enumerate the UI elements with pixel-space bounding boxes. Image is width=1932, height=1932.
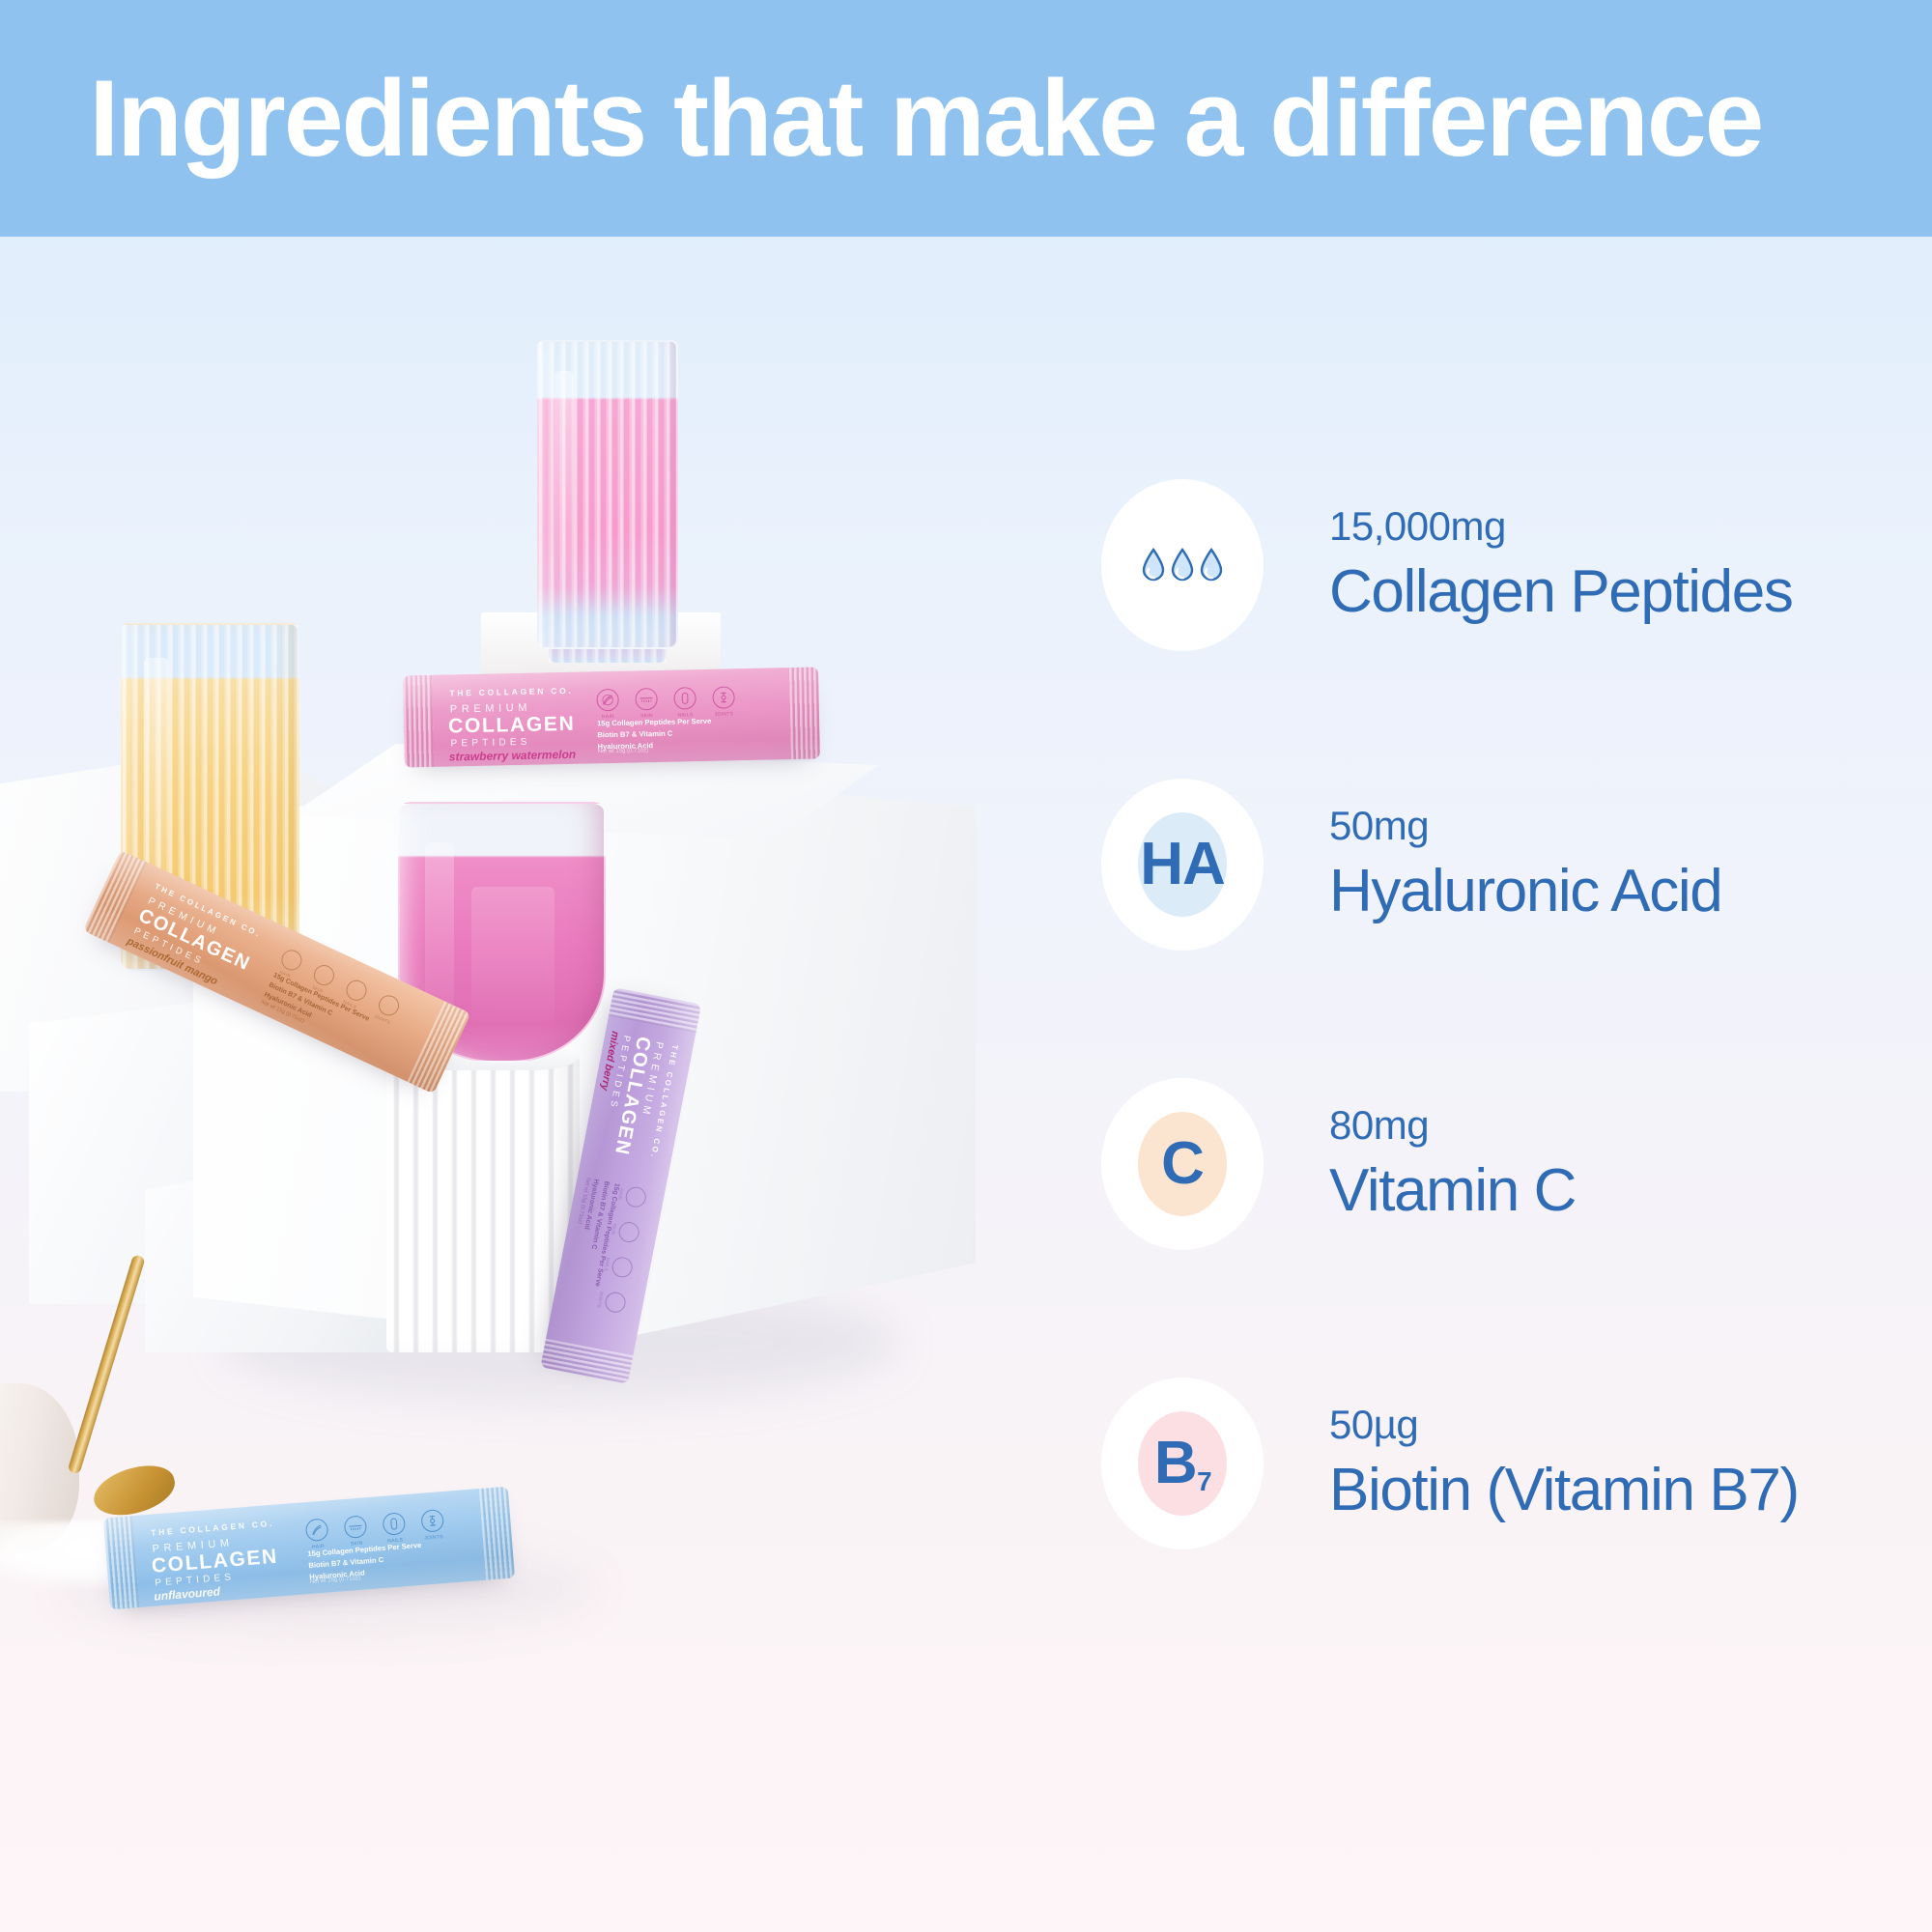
ingredient-name: Hyaluronic Acid — [1329, 856, 1721, 926]
icon-label: JOINTS — [596, 1291, 604, 1309]
joints-icon: JOINTS — [596, 1289, 627, 1314]
nails-icon: NAILS — [673, 687, 696, 718]
fluted-cylinder-pedestal — [386, 1053, 580, 1352]
icon-label: JOINTS — [424, 1534, 443, 1542]
b7-subscript: 7 — [1197, 1466, 1211, 1496]
ingredient-row-hyaluronic-acid: HA 50mg Hyaluronic Acid — [1101, 753, 1932, 976]
hair-icon: HAIR — [596, 689, 619, 720]
sachet-flavour: strawberry watermelon — [449, 748, 577, 764]
sachet-strawberry-watermelon: THE COLLAGEN CO. PREMIUM COLLAGEN PEPTID… — [403, 668, 820, 768]
ingredient-amount: 15,000mg — [1329, 503, 1792, 550]
tall-pink-drink-glass — [537, 340, 678, 649]
joints-icon: JOINTS — [712, 686, 735, 717]
ingredient-amount: 80mg — [1329, 1102, 1576, 1149]
sachet-brand: THE COLLAGEN CO. — [151, 1519, 274, 1538]
sachet-net-weight: Net wt 15g (0.71oz) — [598, 748, 648, 754]
sachet-brand: THE COLLAGEN CO. — [449, 686, 573, 698]
hair-icon: HAIR — [616, 1183, 647, 1208]
glass-rib-texture — [539, 342, 676, 647]
header-banner: Ingredients that make a difference — [0, 0, 1932, 237]
hair-icon: HAIR — [305, 1518, 329, 1550]
icon-label: JOINTS — [715, 711, 734, 717]
nails-icon: NAILS — [603, 1254, 634, 1279]
vitamin-c-letter-icon: C — [1161, 1134, 1204, 1194]
page-title: Ingredients that make a difference — [9, 65, 1762, 173]
ingredient-badge — [1101, 479, 1264, 651]
ingredient-text: 50mg Hyaluronic Acid — [1329, 803, 1721, 925]
skin-icon: SKIN — [635, 688, 658, 719]
ingredient-badge: C — [1101, 1078, 1264, 1250]
b-letter: B — [1154, 1430, 1197, 1496]
ingredient-name: Vitamin C — [1329, 1155, 1576, 1226]
sachet-info: 15g Collagen Peptides Per Serve Biotin B… — [597, 716, 712, 753]
sachet-benefit-icons: HAIR SKIN NAILS JOINTS — [596, 686, 735, 720]
ingredient-text: 50µg Biotin (Vitamin B7) — [1329, 1402, 1799, 1524]
glass-highlight — [554, 371, 574, 612]
biotin-b7-letter-icon: B7 — [1154, 1434, 1210, 1493]
ingredient-badge: B7 — [1101, 1378, 1264, 1549]
ingredient-name: Collagen Peptides — [1329, 556, 1792, 627]
sachet-info-line: 15g Collagen Peptides Per Serve — [597, 716, 711, 729]
ingredient-amount: 50µg — [1329, 1402, 1799, 1448]
water-droplets-icon — [1141, 548, 1224, 582]
skin-icon: SKIN — [610, 1219, 640, 1244]
ingredient-amount: 50mg — [1329, 803, 1721, 849]
sachet-crimp — [103, 1516, 139, 1609]
ingredient-name: Biotin (Vitamin B7) — [1329, 1455, 1799, 1525]
ha-letters-icon: HA — [1140, 835, 1225, 895]
sachet-crimp — [403, 675, 434, 768]
joints-icon: JOINTS — [420, 1509, 444, 1542]
nails-icon: NAILS — [382, 1512, 406, 1545]
glass-highlight — [471, 887, 554, 1022]
collagen-sachets-and-drinks-photo: THE COLLAGEN CO. PREMIUM COLLAGEN PEPTID… — [0, 290, 1024, 1932]
infographic-page: Ingredients that make a difference — [0, 0, 1932, 1932]
sachet-crimp — [479, 1487, 515, 1580]
ingredients-list: 15,000mg Collagen Peptides HA 50mg Hyalu… — [1101, 454, 1932, 1652]
skin-icon: SKIN — [344, 1515, 368, 1548]
ingredient-row-biotin: B7 50µg Biotin (Vitamin B7) — [1101, 1352, 1932, 1575]
ingredient-row-vitamin-c: C 80mg Vitamin C — [1101, 1053, 1932, 1275]
sachet-crimp — [789, 668, 820, 760]
ingredient-text: 80mg Vitamin C — [1329, 1102, 1576, 1225]
joints-icon: JOINTS — [372, 992, 402, 1026]
ingredient-badge: HA — [1101, 779, 1264, 951]
sachet-collagen: COLLAGEN — [448, 713, 576, 739]
sachet-peptides: PEPTIDES — [450, 737, 530, 750]
ingredient-row-collagen-peptides: 15,000mg Collagen Peptides — [1101, 454, 1932, 676]
ingredient-text: 15,000mg Collagen Peptides — [1329, 503, 1792, 626]
